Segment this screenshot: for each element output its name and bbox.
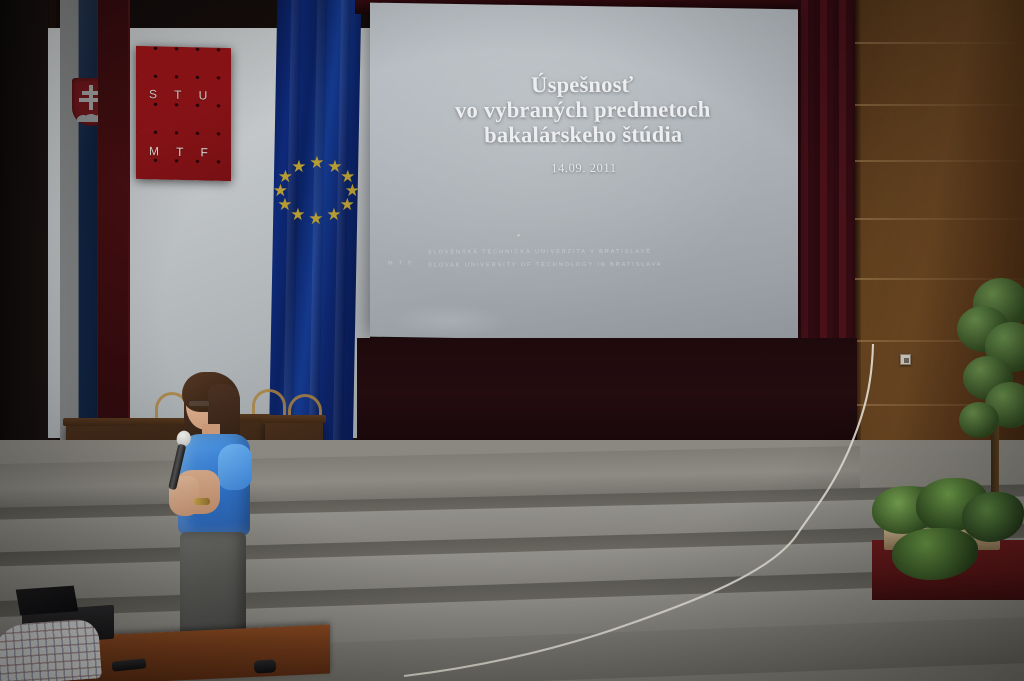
- photo-vignette: [0, 0, 1024, 681]
- auditorium-photo: S T U M T F Úspešnosť vo vybraných predm…: [0, 0, 1024, 681]
